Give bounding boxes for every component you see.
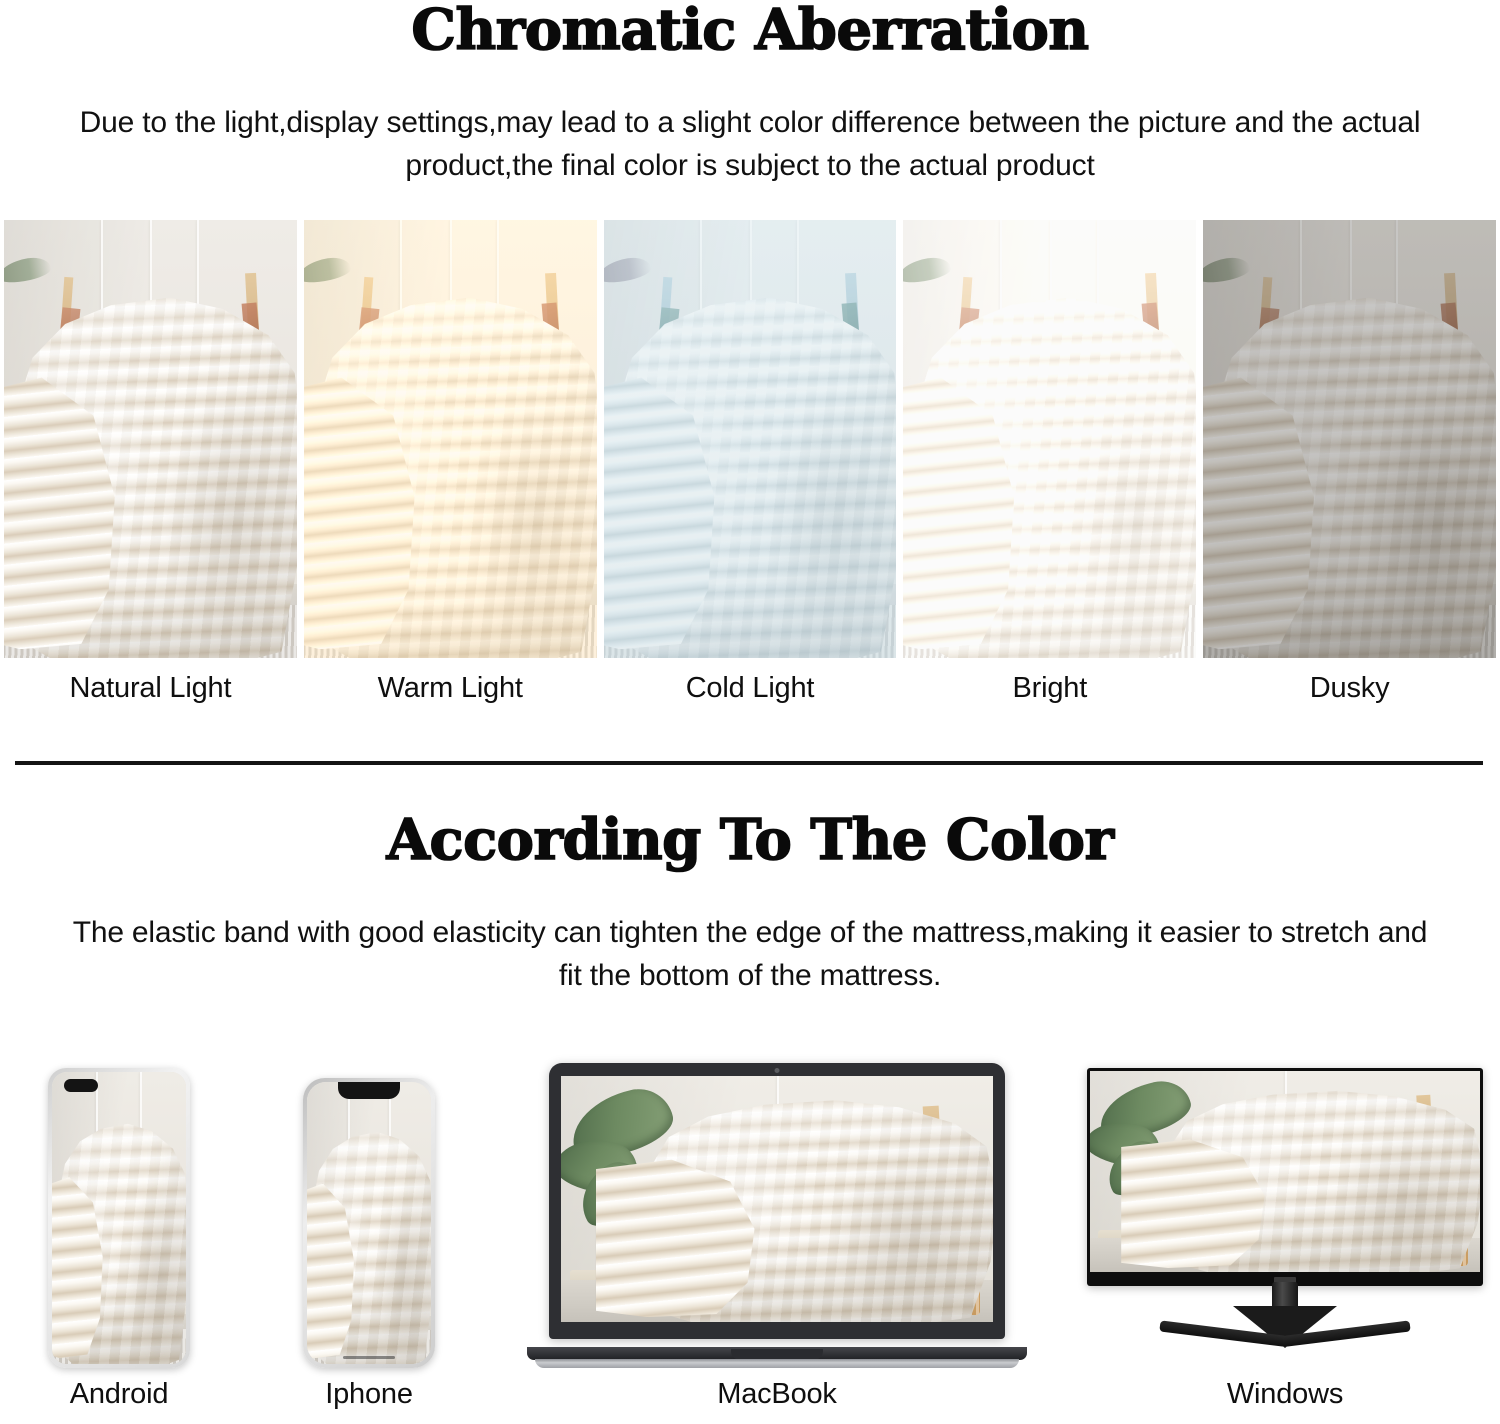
android-phone-body [48, 1068, 190, 1368]
product-photo-cold-light [604, 220, 897, 658]
section-title-according-to-color: According To The Color [0, 812, 1500, 868]
device-label-macbook: MacBook [527, 1378, 1027, 1411]
macbook-lid [549, 1063, 1005, 1339]
device-mockup-iphone [303, 1078, 435, 1368]
webcam-icon [775, 1068, 780, 1073]
product-photo-iphone [307, 1082, 431, 1364]
monitor-stand-feet [1159, 1336, 1411, 1358]
product-photo-natural-light [4, 220, 297, 658]
swatch-warm-light [304, 220, 597, 658]
android-screen [52, 1072, 186, 1364]
page-title: Chromatic Aberration [0, 2, 1500, 58]
device-label-row: Android Iphone MacBook Windows [0, 1378, 1500, 1424]
swatch-label-warm-light: Warm Light [304, 668, 597, 720]
device-label-android: Android [48, 1378, 190, 1411]
product-photo-bright [903, 220, 1196, 658]
product-photo-android [52, 1072, 186, 1364]
aberration-description: Due to the light,display settings,may le… [50, 102, 1450, 187]
notch-icon [338, 1082, 400, 1099]
swatch-cold-light [604, 220, 897, 658]
macbook-foot [535, 1359, 1019, 1368]
device-mockup-row [0, 1048, 1500, 1368]
lighting-swatch-row [0, 220, 1500, 658]
swatch-label-natural-light: Natural Light [4, 668, 297, 720]
device-mockup-windows [1087, 1068, 1483, 1368]
camera-pill-icon [64, 1079, 98, 1092]
swatch-label-cold-light: Cold Light [604, 668, 897, 720]
chromatic-aberration-section: Chromatic Aberration Due to the light,di… [0, 0, 1500, 187]
according-to-color-section: According To The Color The elastic band … [0, 812, 1500, 997]
macbook-screen [561, 1076, 993, 1322]
product-photo-warm-light [304, 220, 597, 658]
swatch-dusky [1203, 220, 1496, 658]
swatch-natural-light [4, 220, 297, 658]
home-indicator [343, 1356, 395, 1359]
section-divider [15, 761, 1483, 765]
monitor-bezel [1087, 1068, 1483, 1286]
swatch-label-bright: Bright [903, 668, 1196, 720]
device-mockup-android [48, 1068, 190, 1368]
product-photo-windows [1090, 1071, 1480, 1272]
swatch-bright [903, 220, 1196, 658]
device-label-iphone: Iphone [303, 1378, 435, 1411]
iphone-screen [307, 1082, 431, 1364]
lighting-label-row: Natural Light Warm Light Cold Light Brig… [0, 668, 1500, 720]
product-photo-dusky [1203, 220, 1496, 658]
monitor-screen [1090, 1071, 1480, 1272]
product-photo-macbook [561, 1076, 993, 1322]
device-label-windows: Windows [1087, 1378, 1483, 1411]
color-description: The elastic band with good elasticity ca… [60, 912, 1440, 997]
iphone-body [303, 1078, 435, 1368]
device-mockup-macbook [527, 1063, 1027, 1368]
swatch-label-dusky: Dusky [1203, 668, 1496, 720]
